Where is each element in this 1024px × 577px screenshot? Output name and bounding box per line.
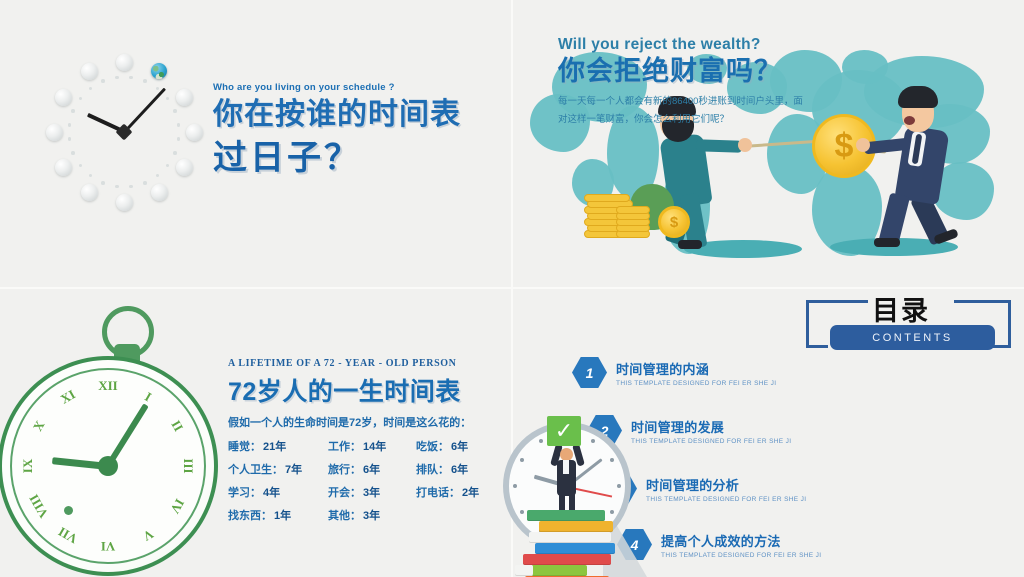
- hour-marker: [81, 184, 98, 201]
- minute-dot: [79, 164, 83, 168]
- book: [529, 532, 611, 543]
- minute-dot: [143, 79, 147, 83]
- top-right-text-block: Will you reject the wealth? 你会拒绝财富吗？ 每一天…: [558, 36, 888, 128]
- contents-item-subtitle: THIS TEMPLATE DESIGNED FOR FEI ER SHE JI: [631, 438, 791, 445]
- table-cell-label: 工作：: [328, 438, 361, 454]
- contents-item-title: 时间管理的分析: [646, 475, 806, 494]
- contents-item-title: 时间管理的内涵: [616, 359, 776, 378]
- hour-marker: [176, 159, 193, 176]
- minute-dot: [115, 76, 119, 80]
- table-row: 个人卫生：7年旅行：6年排队：6年: [228, 461, 493, 477]
- book: [531, 565, 587, 576]
- right-man-hair: [898, 86, 938, 108]
- man-shirt: [563, 460, 569, 474]
- book: [535, 543, 615, 554]
- contents-label-pill: CONTENTS: [830, 325, 995, 350]
- bracket-left-top: [806, 300, 868, 303]
- contents-item-subtitle: THIS TEMPLATE DESIGNED FOR FEI ER SHE JI: [616, 380, 776, 387]
- table-cell: 排队：6年: [416, 461, 493, 477]
- book: [523, 554, 611, 565]
- right-man-mouth: [904, 116, 915, 125]
- table-cell-value: 6年: [363, 461, 380, 477]
- watch-subdial: [64, 506, 73, 515]
- minute-dot: [129, 76, 133, 80]
- hour-marker: [116, 54, 133, 71]
- minute-dot: [156, 87, 160, 91]
- bottom-left-text-block: A LIFETIME OF A 72 - YEAR - OLD PERSON 7…: [228, 358, 508, 530]
- left-man-hand: [738, 138, 752, 152]
- table-cell-value: 3年: [363, 484, 380, 500]
- table-cell-value: 2年: [462, 484, 479, 500]
- table-cell-label: 打电话：: [416, 484, 460, 500]
- clock-tick: [539, 439, 543, 443]
- table-cell-value: 3年: [363, 507, 380, 523]
- roman-numeral: XII: [95, 377, 121, 395]
- hour-marker: [46, 124, 63, 141]
- top-right-eyebrow: Will you reject the wealth?: [558, 36, 888, 54]
- clock-tick: [610, 510, 614, 514]
- table-cell: 旅行：6年: [328, 461, 416, 477]
- hour-marker: [186, 124, 203, 141]
- table-cell-label: 开会：: [328, 484, 361, 500]
- table-cell-label: 排队：: [416, 461, 449, 477]
- contents-item-text: 时间管理的发展THIS TEMPLATE DESIGNED FOR FEI ER…: [631, 415, 791, 445]
- minute-dot: [129, 185, 133, 189]
- table-cell-value: 6年: [451, 461, 468, 477]
- hour-marker: [55, 159, 72, 176]
- top-left-headline-line2: 过日子？: [213, 136, 503, 180]
- hour-marker: [176, 89, 193, 106]
- minute-dot: [177, 137, 181, 141]
- table-cell: 工作：14年: [328, 438, 416, 454]
- left-man-shoe: [678, 240, 702, 249]
- lifetime-table: 睡觉：21年工作：14年吃饭：6年个人卫生：7年旅行：6年排队：6年学习：4年开…: [228, 438, 493, 523]
- table-row: 睡觉：21年工作：14年吃饭：6年: [228, 438, 493, 454]
- top-right-body: 每一天每一个人都会有新的86400秒进账到时间户头里，面 对这样一笔财富，你会怎…: [558, 93, 858, 128]
- book: [515, 565, 533, 576]
- table-cell: 睡觉：21年: [228, 438, 328, 454]
- table-cell-value: 21年: [263, 438, 286, 454]
- top-left-headline-line1: 你在按谁的时间表: [213, 97, 503, 132]
- wall-clock-icon: [36, 44, 212, 220]
- minute-dot: [89, 87, 93, 91]
- minute-dot: [115, 185, 119, 189]
- minute-dot: [173, 109, 177, 113]
- table-cell: 学习：4年: [228, 484, 328, 500]
- clock-tick: [610, 458, 614, 462]
- table-cell-value: 14年: [363, 438, 386, 454]
- table-cell: 其他：3年: [328, 507, 416, 523]
- minute-dot: [101, 79, 105, 83]
- clock-tick: [617, 484, 621, 488]
- hour-marker: [151, 184, 168, 201]
- table-cell-value: 1年: [274, 507, 291, 523]
- bracket-right-top: [954, 300, 1011, 303]
- slide-canvas: Who are you living on your schedule ? 你在…: [0, 0, 1024, 577]
- minute-dot: [68, 123, 72, 127]
- table-cell-value: 7年: [285, 461, 302, 477]
- contents-item-number-hexagon: 1: [572, 357, 607, 388]
- divider-horizontal: [0, 287, 1024, 289]
- top-left-text-block: Who are you living on your schedule ? 你在…: [213, 82, 503, 181]
- right-man-hand: [856, 138, 870, 152]
- minute-dot: [101, 181, 105, 185]
- man-on-books-illustration: ✓: [485, 410, 655, 577]
- table-cell-label: 吃饭：: [416, 438, 449, 454]
- contents-item-title: 时间管理的发展: [631, 417, 791, 436]
- table-cell-label: 其他：: [328, 507, 361, 523]
- table-cell: 找东西：1年: [228, 507, 328, 523]
- contents-title: 目录: [872, 289, 930, 328]
- bracket-left-vertical: [806, 300, 809, 348]
- minute-dot: [166, 97, 170, 101]
- clock-tick: [520, 458, 524, 462]
- table-cell-value: 4年: [263, 484, 280, 500]
- right-man-shoe: [874, 238, 900, 247]
- bottom-left-subtitle: 假如一个人的生命时间是72岁，时间是这么花的：: [228, 414, 508, 430]
- coin-stack-piece: [584, 194, 630, 202]
- minute-dot: [173, 151, 177, 155]
- book: [539, 521, 613, 532]
- coin-small-dollar: $: [658, 206, 690, 238]
- table-row: 学习：4年开会：3年打电话：2年: [228, 484, 493, 500]
- contents-item-text: 时间管理的分析THIS TEMPLATE DESIGNED FOR FEI ER…: [646, 473, 806, 503]
- roman-numeral: VI: [95, 537, 121, 555]
- clock-tick: [513, 484, 517, 488]
- table-cell: 吃饭：6年: [416, 438, 493, 454]
- contents-item-title: 提高个人成效的方法: [661, 531, 821, 550]
- table-cell: 开会：3年: [328, 484, 416, 500]
- minute-dot: [68, 137, 72, 141]
- minute-dot: [89, 174, 93, 178]
- clock-tick: [520, 510, 524, 514]
- contents-item-subtitle: THIS TEMPLATE DESIGNED FOR FEI ER SHE JI: [661, 552, 821, 559]
- top-right-body-line1: 每一天每一个人都会有新的86400秒进账到时间户头里，面: [558, 93, 858, 111]
- minute-dot: [71, 109, 75, 113]
- contents-item-text: 提高个人成效的方法THIS TEMPLATE DESIGNED FOR FEI …: [661, 529, 821, 559]
- minute-dot: [156, 174, 160, 178]
- bottom-left-eyebrow: A LIFETIME OF A 72 - YEAR - OLD PERSON: [228, 358, 508, 369]
- minute-dot: [166, 164, 170, 168]
- minute-dot: [79, 97, 83, 101]
- table-cell-value: 6年: [451, 438, 468, 454]
- minute-dot: [177, 123, 181, 127]
- hour-marker: [55, 89, 72, 106]
- bottom-left-headline: 72岁人的一生时间表: [228, 372, 508, 408]
- bracket-right-vertical: [1008, 300, 1011, 348]
- pocket-watch-illustration: XIIIIIIIIIVVVIVIIVIIIIXXXI: [40, 300, 240, 577]
- contents-item-subtitle: THIS TEMPLATE DESIGNED FOR FEI ER SHE JI: [646, 496, 806, 503]
- left-man-arm: [696, 139, 742, 153]
- book: [527, 510, 605, 521]
- watch-hub: [98, 456, 118, 476]
- table-row: 找东西：1年其他：3年: [228, 507, 493, 523]
- table-cell: 个人卫生：7年: [228, 461, 328, 477]
- minute-dot: [71, 151, 75, 155]
- contents-item-1[interactable]: 1时间管理的内涵THIS TEMPLATE DESIGNED FOR FEI E…: [572, 357, 776, 388]
- globe-hour-marker: [151, 63, 167, 79]
- hour-marker: [116, 194, 133, 211]
- panel-top-left: Who are you living on your schedule ? 你在…: [0, 0, 512, 288]
- panel-top-right: $$ Will you reject the wealth? 你会拒绝财富吗？ …: [512, 0, 1024, 288]
- checkmark-badge: ✓: [547, 416, 581, 446]
- clock-tick: [591, 439, 595, 443]
- hour-marker: [81, 63, 98, 80]
- roman-numeral: III: [179, 453, 197, 479]
- top-right-headline: 你会拒绝财富吗？: [558, 56, 888, 87]
- table-cell-label: 旅行：: [328, 461, 361, 477]
- table-cell: [416, 507, 493, 523]
- bracket-left-bottom: [806, 345, 828, 348]
- top-left-eyebrow: Who are you living on your schedule ?: [213, 82, 503, 93]
- minute-dot: [143, 181, 147, 185]
- minute-hand: [123, 87, 166, 133]
- top-right-body-line2: 对这样一笔财富，你会怎么利用它们呢？: [558, 111, 858, 129]
- table-cell: 打电话：2年: [416, 484, 493, 500]
- contents-item-text: 时间管理的内涵THIS TEMPLATE DESIGNED FOR FEI ER…: [616, 357, 776, 387]
- roman-numeral: IX: [19, 453, 37, 479]
- coin-stack-piece-2: [616, 206, 650, 214]
